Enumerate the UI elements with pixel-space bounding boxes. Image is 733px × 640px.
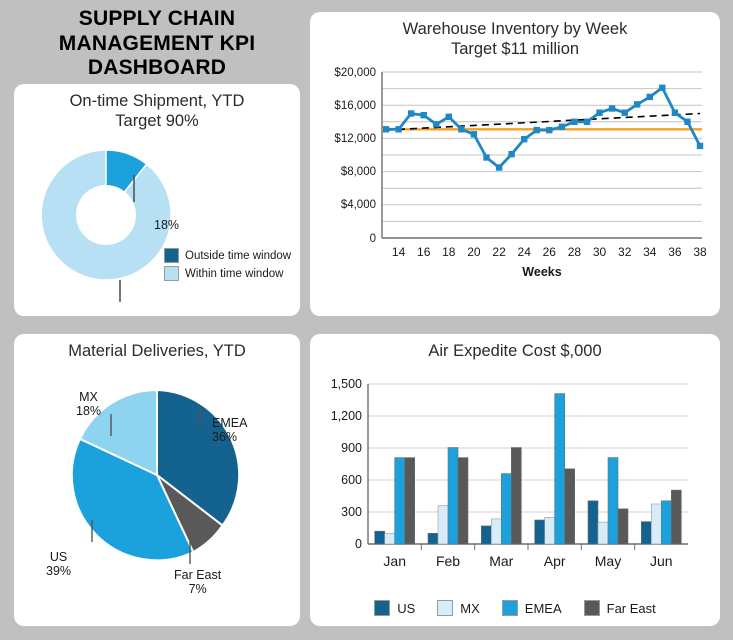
on-time-title-line-1: On-time Shipment, YTD bbox=[70, 92, 245, 110]
svg-text:$20,000: $20,000 bbox=[334, 67, 376, 79]
legend-label-emea: EMEA bbox=[525, 601, 562, 616]
bar-mar-emea[interactable] bbox=[501, 473, 511, 543]
page-title-line-3: DASHBOARD bbox=[88, 56, 226, 79]
air-expedite-legend: US MX EMEA Far East bbox=[310, 600, 720, 616]
bar-jun-us[interactable] bbox=[641, 521, 651, 543]
bar-mar-far-east[interactable] bbox=[511, 447, 521, 544]
warehouse-inventory-line-chart[interactable]: $20,000 $16,000 $12,000 $8,000 $4,000 0 bbox=[310, 60, 720, 300]
bar-mar-us[interactable] bbox=[481, 526, 491, 544]
bar-jun-far-east[interactable] bbox=[671, 490, 681, 544]
svg-text:1,500: 1,500 bbox=[331, 377, 362, 391]
legend-swatch-icon-us bbox=[374, 600, 390, 616]
svg-text:32: 32 bbox=[618, 245, 632, 259]
svg-text:36: 36 bbox=[668, 245, 682, 259]
svg-text:28: 28 bbox=[568, 245, 582, 259]
air-category-ticks bbox=[421, 544, 634, 550]
pie-label-us-value: 39% bbox=[46, 564, 71, 578]
legend-swatch-icon-within bbox=[164, 266, 179, 281]
svg-text:$12,000: $12,000 bbox=[334, 133, 376, 145]
on-time-title-line-2: Target 90% bbox=[14, 112, 300, 132]
svg-text:$4,000: $4,000 bbox=[341, 199, 376, 211]
svg-text:900: 900 bbox=[341, 441, 362, 455]
warehouse-chart-title: Warehouse Inventory by Week Target $11 m… bbox=[310, 12, 720, 60]
svg-text:$8,000: $8,000 bbox=[341, 166, 376, 178]
dashboard-title: SUPPLY CHAIN MANAGEMENT KPI DASHBOARD bbox=[14, 8, 300, 80]
donut-value-label-outside: 18% bbox=[154, 218, 179, 232]
svg-text:Apr: Apr bbox=[544, 553, 566, 569]
svg-text:30: 30 bbox=[593, 245, 607, 259]
svg-text:Jun: Jun bbox=[650, 553, 673, 569]
material-title: Material Deliveries, YTD bbox=[68, 342, 246, 360]
bar-apr-emea[interactable] bbox=[555, 393, 565, 543]
bar-apr-far-east[interactable] bbox=[565, 469, 575, 544]
pie-label-emea-name: EMEA bbox=[212, 416, 247, 430]
card-on-time-shipment: On-time Shipment, YTD Target 90% 18% 82%… bbox=[14, 84, 300, 316]
svg-text:38: 38 bbox=[693, 245, 707, 259]
card-material-deliveries: Material Deliveries, YTD EMEA bbox=[14, 334, 300, 626]
bar-jan-us[interactable] bbox=[375, 531, 385, 544]
svg-text:Mar: Mar bbox=[489, 553, 513, 569]
on-time-legend: Outside time window Within time window bbox=[164, 248, 291, 284]
pie-label-emea-value: 36% bbox=[212, 430, 237, 444]
svg-text:22: 22 bbox=[492, 245, 506, 259]
svg-text:20: 20 bbox=[467, 245, 481, 259]
bar-apr-us[interactable] bbox=[535, 520, 545, 544]
svg-text:$16,000: $16,000 bbox=[334, 100, 376, 112]
svg-text:0: 0 bbox=[370, 233, 376, 245]
air-chart-title: Air Expedite Cost $,000 bbox=[310, 334, 720, 362]
material-chart-title: Material Deliveries, YTD bbox=[14, 334, 300, 362]
page-title: SUPPLY CHAIN MANAGEMENT KPI DASHBOARD bbox=[59, 7, 255, 81]
svg-text:24: 24 bbox=[518, 245, 532, 259]
bar-feb-emea[interactable] bbox=[448, 447, 458, 544]
legend-item-mx[interactable]: MX bbox=[437, 600, 480, 616]
pie-label-mx: MX 18% bbox=[76, 390, 101, 419]
legend-item-far-east[interactable]: Far East bbox=[584, 600, 656, 616]
pie-label-far-east: Far East 7% bbox=[174, 568, 221, 597]
bar-mar-mx[interactable] bbox=[491, 519, 501, 544]
legend-item-us[interactable]: US bbox=[374, 600, 415, 616]
legend-item-emea[interactable]: EMEA bbox=[502, 600, 562, 616]
air-gridlines bbox=[368, 384, 688, 512]
card-air-expedite-cost: Air Expedite Cost $,000 1,500 1,200 900 … bbox=[310, 334, 720, 626]
air-expedite-cost-bar-chart[interactable]: 1,500 1,200 900 600 300 0 bbox=[310, 362, 720, 580]
bar-jan-far-east[interactable] bbox=[405, 457, 415, 543]
warehouse-title-line-2: Target $11 million bbox=[310, 40, 720, 60]
on-time-chart-title: On-time Shipment, YTD Target 90% bbox=[14, 84, 300, 132]
donut-hole bbox=[76, 185, 136, 245]
bar-may-us[interactable] bbox=[588, 501, 598, 544]
legend-label-within: Within time window bbox=[185, 268, 283, 280]
legend-swatch-icon-emea bbox=[502, 600, 518, 616]
svg-text:1,200: 1,200 bbox=[331, 409, 362, 423]
pie-label-mx-value: 18% bbox=[76, 404, 101, 418]
bar-may-far-east[interactable] bbox=[618, 509, 628, 544]
svg-text:600: 600 bbox=[341, 473, 362, 487]
pie-label-far-east-name: Far East bbox=[174, 568, 221, 582]
page-title-line-2: MANAGEMENT KPI bbox=[59, 32, 255, 55]
bar-feb-far-east[interactable] bbox=[458, 457, 468, 543]
material-pie-area: EMEA 36% MX 18% US 39% Far East 7% bbox=[14, 362, 300, 606]
bar-jan-emea[interactable] bbox=[395, 457, 405, 543]
legend-swatch-icon-outside bbox=[164, 248, 179, 263]
svg-text:300: 300 bbox=[341, 505, 362, 519]
pie-label-far-east-value: 7% bbox=[189, 582, 207, 596]
svg-text:14: 14 bbox=[392, 245, 406, 259]
pie-label-emea: EMEA 36% bbox=[212, 416, 247, 445]
legend-swatch-icon-far-east bbox=[584, 600, 600, 616]
warehouse-title-line-1: Warehouse Inventory by Week bbox=[403, 20, 628, 38]
svg-text:Feb: Feb bbox=[436, 553, 460, 569]
bar-jun-mx[interactable] bbox=[651, 504, 661, 544]
pie-label-us-name: US bbox=[50, 550, 67, 564]
warehouse-x-axis-label: Weeks bbox=[522, 265, 561, 279]
air-title: Air Expedite Cost $,000 bbox=[428, 342, 601, 360]
dashboard-root: SUPPLY CHAIN MANAGEMENT KPI DASHBOARD On… bbox=[0, 0, 733, 640]
warehouse-x-tick-labels: 14 16 18 20 22 24 26 28 30 32 34 36 38 bbox=[392, 245, 707, 259]
svg-text:0: 0 bbox=[355, 537, 362, 551]
svg-text:May: May bbox=[595, 553, 621, 569]
bar-feb-mx[interactable] bbox=[438, 505, 448, 543]
bar-jun-emea[interactable] bbox=[661, 501, 671, 544]
air-y-tick-labels: 1,500 1,200 900 600 300 0 bbox=[331, 377, 362, 551]
card-warehouse-inventory: Warehouse Inventory by Week Target $11 m… bbox=[310, 12, 720, 316]
legend-label-us: US bbox=[397, 601, 415, 616]
bar-may-emea[interactable] bbox=[608, 457, 618, 543]
legend-swatch-icon-mx bbox=[437, 600, 453, 616]
svg-text:18: 18 bbox=[442, 245, 456, 259]
pie-label-mx-name: MX bbox=[79, 390, 98, 404]
svg-text:16: 16 bbox=[417, 245, 431, 259]
bar-jan-mx[interactable] bbox=[385, 533, 395, 544]
legend-label-outside: Outside time window bbox=[185, 250, 291, 262]
warehouse-y-tick-labels: $20,000 $16,000 $12,000 $8,000 $4,000 0 bbox=[334, 67, 376, 245]
bar-may-mx[interactable] bbox=[598, 522, 608, 544]
pie-label-us: US 39% bbox=[46, 550, 71, 579]
bar-apr-mx[interactable] bbox=[545, 517, 555, 544]
legend-label-mx: MX bbox=[460, 601, 480, 616]
air-category-labels: Jan Feb Mar Apr May Jun bbox=[383, 553, 672, 569]
legend-item-outside-time-window[interactable]: Outside time window bbox=[164, 248, 291, 263]
svg-text:26: 26 bbox=[543, 245, 557, 259]
page-title-line-1: SUPPLY CHAIN bbox=[79, 7, 235, 30]
svg-text:Jan: Jan bbox=[383, 553, 406, 569]
svg-text:34: 34 bbox=[643, 245, 657, 259]
warehouse-data-markers bbox=[383, 84, 703, 170]
bar-feb-us[interactable] bbox=[428, 533, 438, 544]
legend-label-far-east: Far East bbox=[607, 601, 656, 616]
legend-item-within-time-window[interactable]: Within time window bbox=[164, 266, 291, 281]
